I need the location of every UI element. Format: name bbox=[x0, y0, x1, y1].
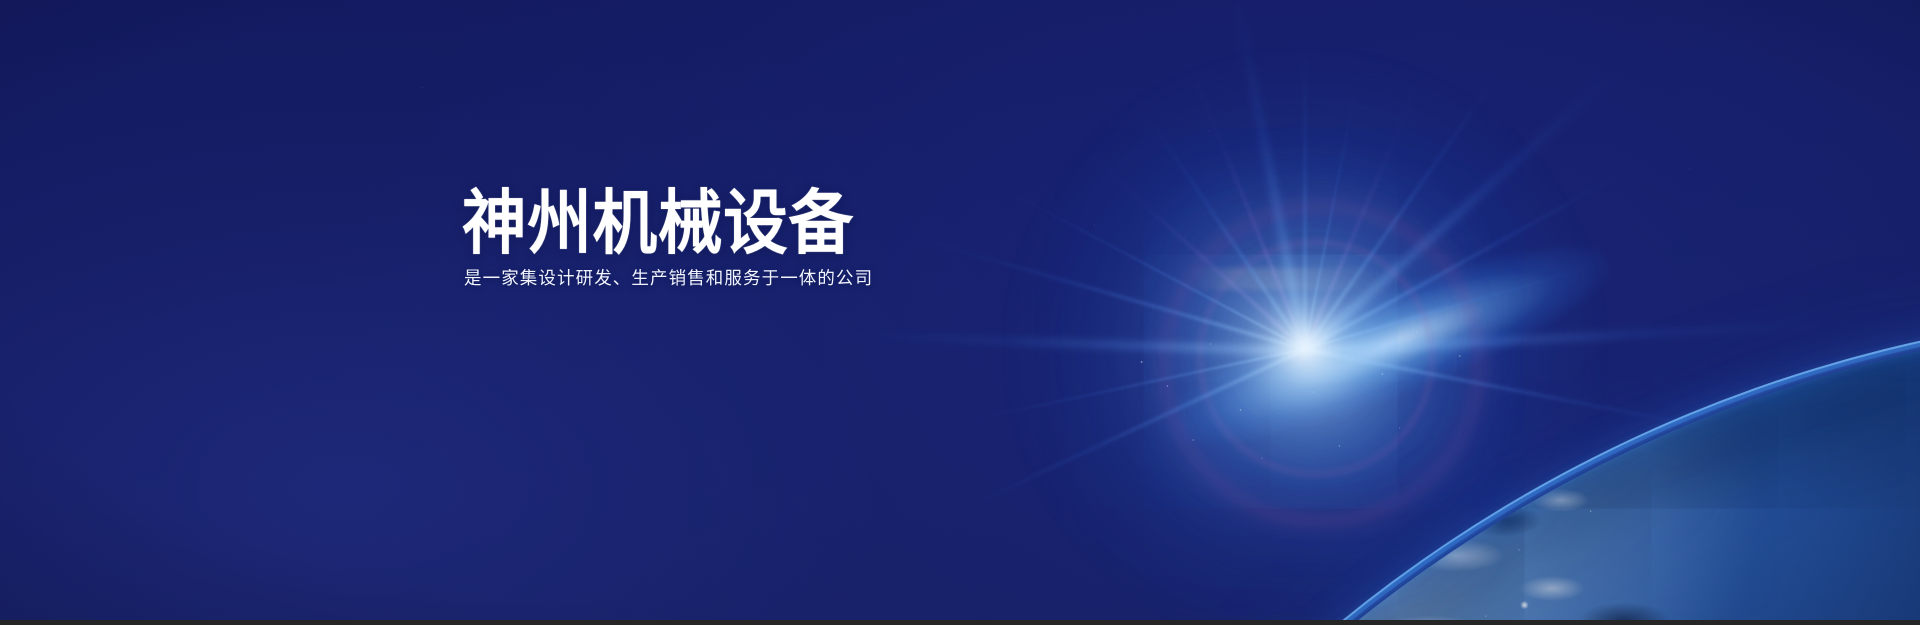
atmosphere-rim bbox=[830, 308, 1920, 625]
page-subtitle: 是一家集设计研发、生产销售和服务于一体的公司 bbox=[464, 268, 888, 289]
page-title: 神州机械设备 bbox=[462, 188, 854, 258]
hero-banner: 神州机械设备 是一家集设计研发、生产销售和服务于一体的公司 bbox=[0, 0, 1920, 625]
earth-globe bbox=[0, 0, 1920, 625]
bottom-edge-strip bbox=[0, 620, 1920, 625]
globe-sphere bbox=[840, 318, 1920, 625]
hero-copy: 神州机械设备 是一家集设计研发、生产销售和服务于一体的公司 bbox=[462, 188, 888, 289]
